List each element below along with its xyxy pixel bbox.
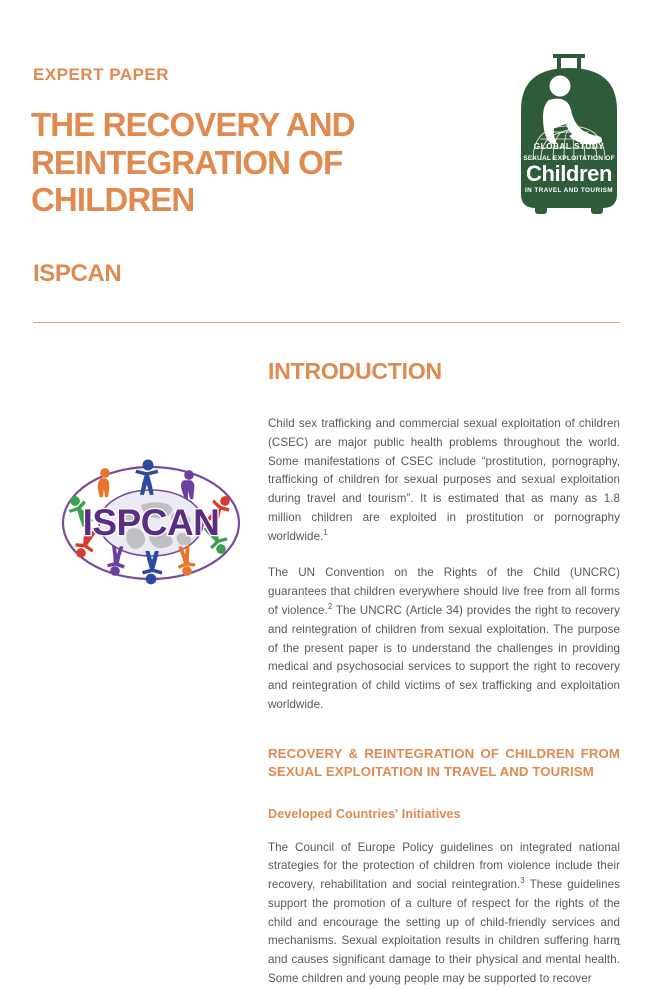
sub-sub-heading-developed-countries: Developed Countries' Initiatives	[268, 806, 620, 822]
paragraph-2b-text: The UNCRC (Article 34) provides the righ…	[268, 604, 620, 711]
global-study-suitcase-logo: GLOBAL STUDY SEXUAL EXPLOITATION OF Chil…	[513, 48, 625, 224]
paragraph-developed-countries-1: The Council of Europe Policy guidelines …	[268, 839, 620, 989]
paragraph-3b-text: These guidelines support the promotion o…	[268, 878, 620, 985]
paragraph-1-text: Child sex trafficking and commercial sex…	[268, 417, 620, 543]
svg-text:GLOBAL STUDY: GLOBAL STUDY	[534, 142, 604, 151]
header-divider	[33, 322, 620, 323]
ispcan-logo: ISPCAN	[53, 443, 250, 603]
paragraph-introduction-2: The UN Convention on the Rights of the C…	[268, 564, 620, 714]
page-number: 1	[615, 936, 621, 948]
section-title: INTRODUCTION	[268, 360, 620, 383]
kicker-label: EXPERT PAPER	[33, 66, 169, 83]
organization-name: ISPCAN	[33, 262, 121, 286]
svg-text:Children: Children	[526, 161, 612, 186]
footnote-ref-1: 1	[323, 528, 327, 537]
document-page: EXPERT PAPER THE RECOVERY AND REINTEGRAT…	[0, 0, 652, 976]
page-title: THE RECOVERY AND REINTEGRATION OF CHILDR…	[31, 106, 391, 219]
content-column: INTRODUCTION Child sex trafficking and c…	[268, 360, 620, 989]
sub-heading-recovery-reintegration: RECOVERY & REINTEGRATION OF CHILDREN FRO…	[268, 745, 620, 782]
ispcan-wordmark: ISPCAN	[83, 502, 220, 543]
svg-text:IN TRAVEL AND TOURISM: IN TRAVEL AND TOURISM	[525, 187, 613, 194]
paragraph-introduction-1: Child sex trafficking and commercial sex…	[268, 415, 620, 546]
